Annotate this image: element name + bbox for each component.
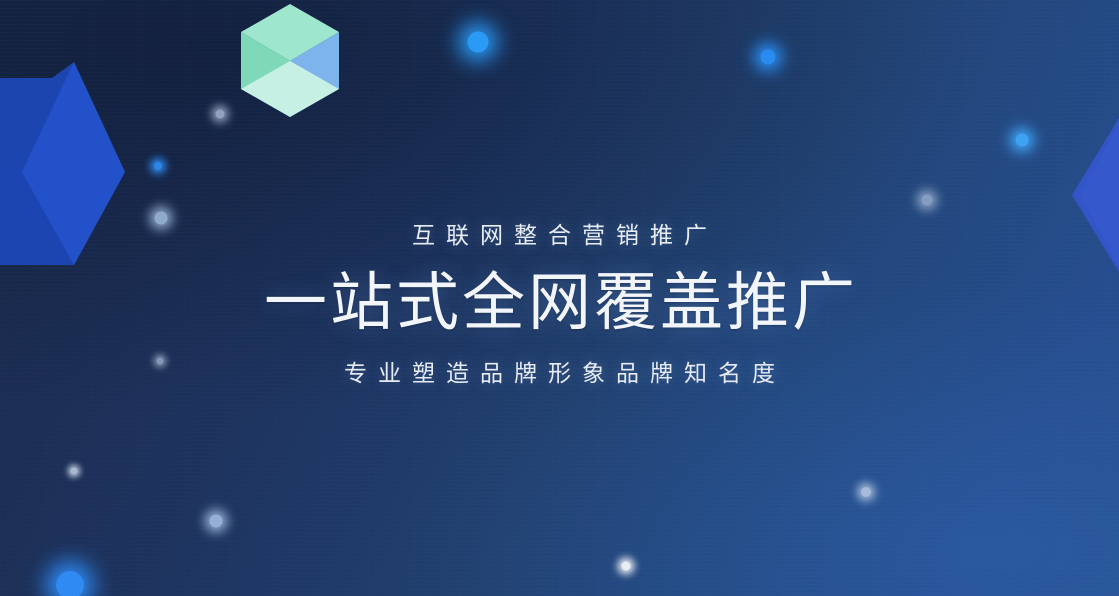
particle-left-bottom-small <box>71 468 78 475</box>
banner-headline: 一站式全网覆盖推广 <box>0 264 1119 342</box>
particle-bottom-center <box>622 562 631 571</box>
hero-banner: 互联网整合营销推广 一站式全网覆盖推广 专业塑造品牌形象品牌知名度 <box>0 0 1119 596</box>
banner-tagline: 专业塑造品牌形象品牌知名度 <box>0 356 1119 390</box>
banner-eyebrow: 互联网整合营销推广 <box>0 218 1119 252</box>
particle-bottom-left-mid <box>210 515 223 528</box>
particle-top-right <box>761 50 776 65</box>
particle-right-mid <box>922 195 933 206</box>
particle-top-far-right <box>861 487 871 497</box>
particle-bottom-left-big <box>56 571 84 596</box>
particle-right-edge <box>1016 134 1029 147</box>
particle-logo-left <box>216 110 225 119</box>
particle-left-upper <box>154 162 162 170</box>
particle-top-center <box>468 32 489 53</box>
banner-text-block: 互联网整合营销推广 一站式全网覆盖推广 专业塑造品牌形象品牌知名度 <box>0 218 1119 390</box>
logo-cube-icon <box>240 4 340 118</box>
